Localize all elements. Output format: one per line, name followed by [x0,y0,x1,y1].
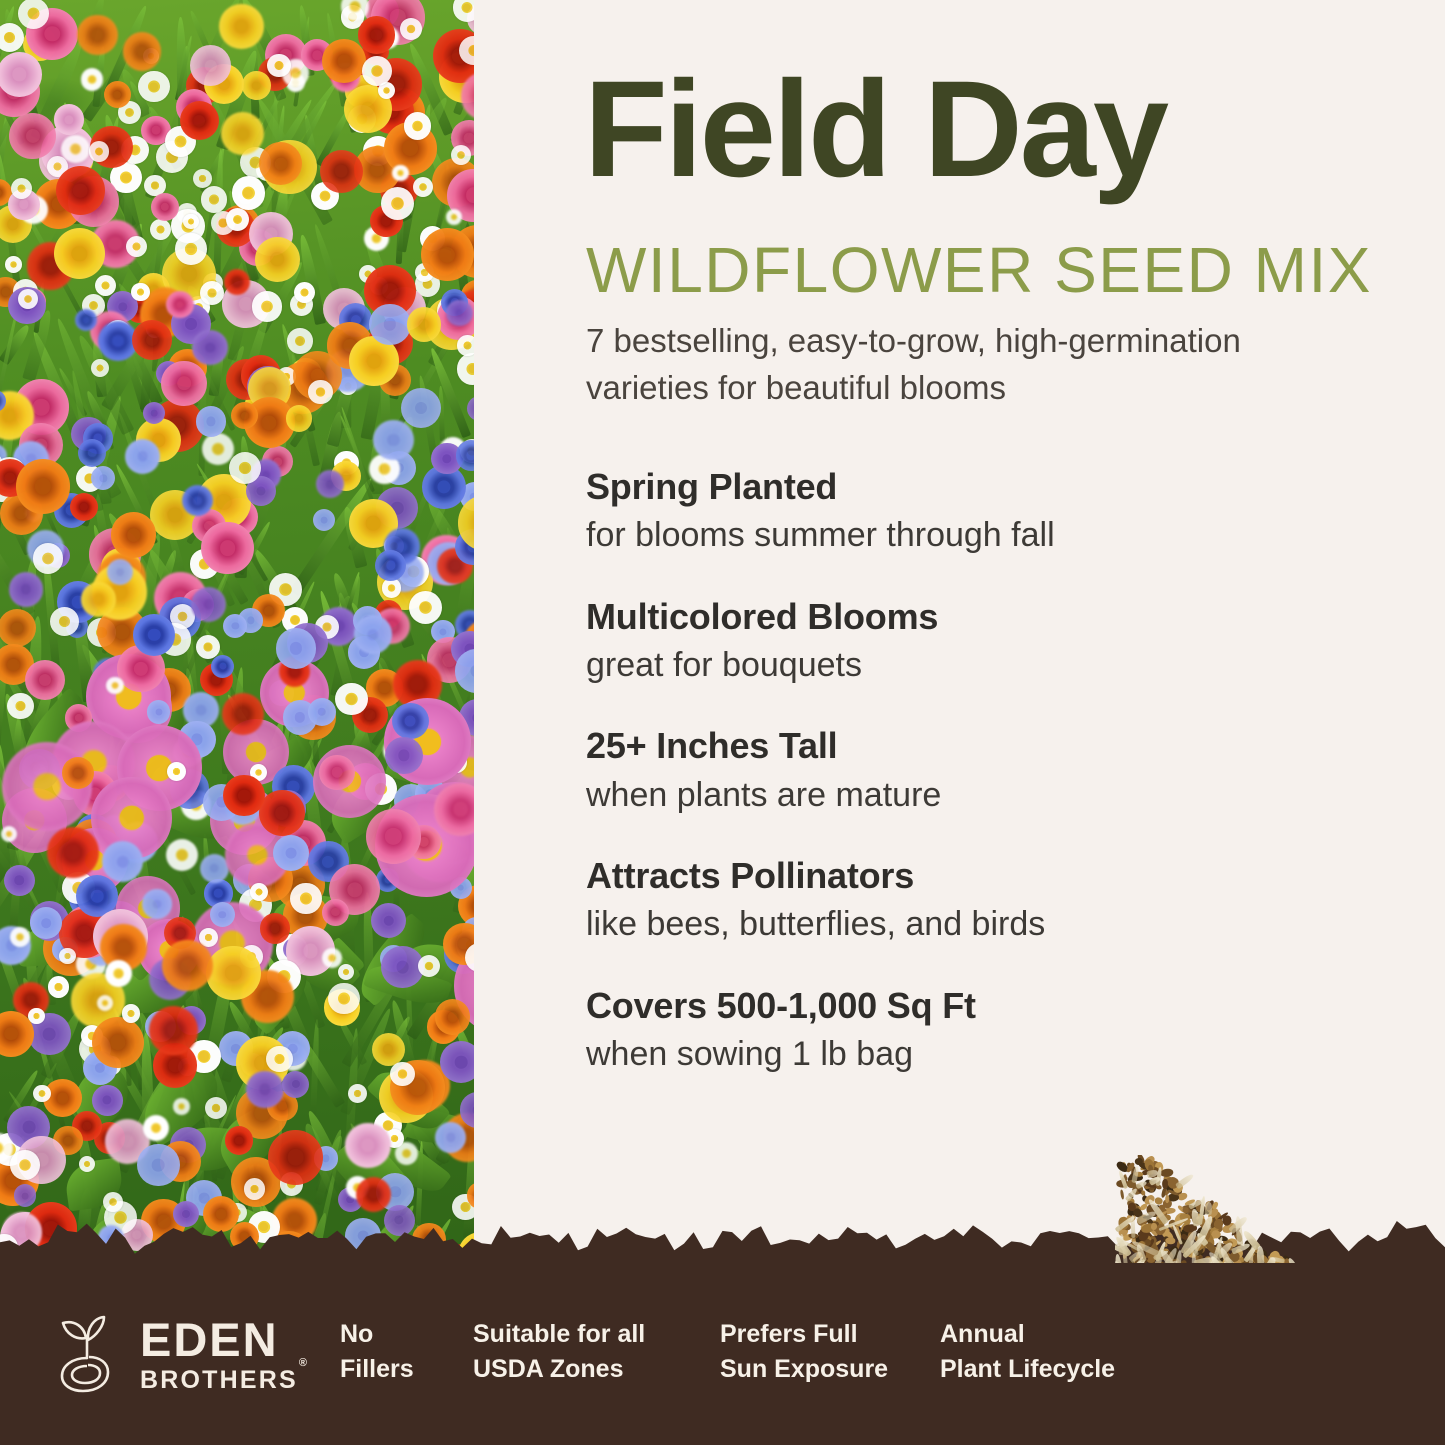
torn-soil-edge [0,1217,1445,1263]
footer-item-line2: Plant Lifecycle [940,1352,1115,1387]
footer-bar: EDEN BROTHERS® No Fillers Suitable for a… [0,1263,1445,1445]
footer-item-usda-zones: Suitable for all USDA Zones [473,1317,645,1386]
feature-title: Spring Planted [586,465,1346,508]
product-title: Field Day [584,60,1166,200]
feature-subtitle: like bees, butterflies, and birds [586,903,1346,946]
feature-item: Multicolored Blooms great for bouquets [586,595,1346,687]
feature-item: Attracts Pollinators like bees, butterfl… [586,854,1346,946]
footer-item-line1: Suitable for all [473,1320,645,1348]
sprout-seed-icon [50,1314,124,1394]
product-subtitle: WILDFLOWER SEED MIX [586,238,1372,302]
feature-subtitle: great for bouquets [586,644,1346,687]
footer-item-line1: No [340,1320,373,1348]
footer-item-sun-exposure: Prefers Full Sun Exposure [720,1317,888,1386]
feature-title: 25+ Inches Tall [586,724,1346,767]
feature-title: Attracts Pollinators [586,854,1346,897]
product-tagline: 7 bestselling, easy-to-grow, high-germin… [586,318,1326,412]
logo-brothers-text: BROTHERS® [140,1368,308,1393]
feature-item: 25+ Inches Tall when plants are mature [586,724,1346,816]
footer-item-line2: Sun Exposure [720,1352,888,1387]
feature-title: Multicolored Blooms [586,595,1346,638]
feature-item: Covers 500-1,000 Sq Ft when sowing 1 lb … [586,984,1346,1076]
footer-item-line1: Annual [940,1320,1025,1348]
footer-item-plant-lifecycle: Annual Plant Lifecycle [940,1317,1115,1386]
feature-list: Spring Planted for blooms summer through… [586,465,1346,1113]
wildflower-meadow-photo [0,0,474,1300]
feature-subtitle: when plants are mature [586,774,1346,817]
logo-eden-text: EDEN [140,1316,308,1363]
feature-item: Spring Planted for blooms summer through… [586,465,1346,557]
eden-brothers-logo[interactable]: EDEN BROTHERS® [50,1314,285,1394]
trademark-symbol: ® [299,1357,309,1369]
footer-item-no-fillers: No Fillers [340,1317,414,1386]
feature-subtitle: when sowing 1 lb bag [586,1033,1346,1076]
meadow-flowers [0,0,474,1300]
footer-item-line2: USDA Zones [473,1352,645,1387]
footer-item-line1: Prefers Full [720,1320,858,1348]
footer-item-line2: Fillers [340,1352,414,1387]
feature-subtitle: for blooms summer through fall [586,514,1346,557]
feature-title: Covers 500-1,000 Sq Ft [586,984,1346,1027]
product-infographic: Field Day WILDFLOWER SEED MIX 7 bestsell… [0,0,1445,1445]
